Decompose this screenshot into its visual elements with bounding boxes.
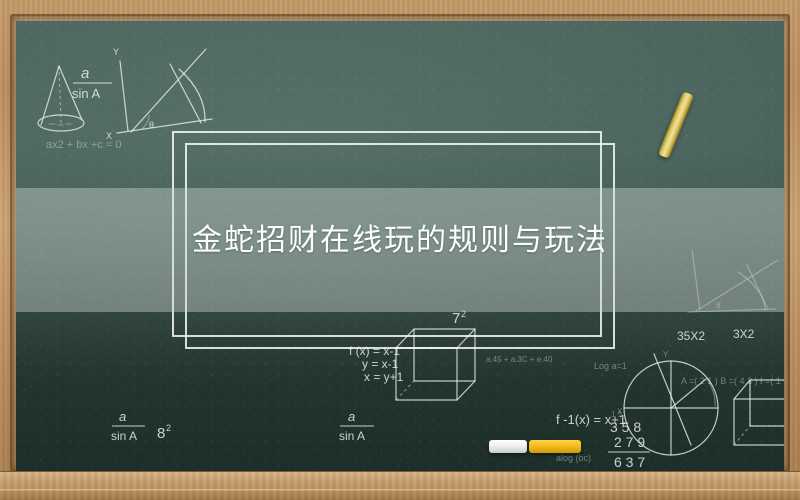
svg-text:A =( 2 1 ) B =( 4 3 ) I =( 1: A =( 2 1 ) B =( 4 3 ) I =( 1 0 ) (681, 376, 784, 386)
matrix-notation: A =( 2 1 ) B =( 4 3 ) I =( 1 0 ) (681, 376, 784, 386)
function-equations: f (x) = x-1 y = x-1 x = y+1 (349, 344, 404, 384)
ledge-lip (0, 489, 800, 492)
chalk-piece-white (489, 440, 527, 453)
svg-text:3 5 8: 3 5 8 (610, 419, 641, 435)
angle-diagram-topleft: Y X θ (106, 47, 212, 141)
circle-sector-diagram: Y X (617, 350, 718, 455)
svg-text:X: X (617, 407, 623, 416)
cone-shape (38, 66, 84, 131)
svg-text:Y: Y (663, 350, 669, 359)
svg-text:y = x-1: y = x-1 (362, 357, 399, 371)
log-note: Log a=1 (594, 361, 627, 371)
label-35x2: 35X2 (677, 329, 705, 343)
chalk-piece-yellow (529, 440, 581, 453)
inverse-function: f -1(x) = x+1 (556, 412, 626, 427)
svg-text:a: a (119, 409, 126, 424)
svg-text:sin A: sin A (111, 429, 137, 443)
svg-text:1 1: 1 1 (611, 410, 623, 419)
svg-text:sin A: sin A (72, 86, 101, 101)
svg-text:sin A: sin A (339, 429, 365, 443)
exponent-eight-squared: 8 2 (157, 423, 171, 442)
fraction-a-over-sin-a-center-bottom: a sin A (339, 409, 374, 443)
svg-text:Y: Y (113, 47, 119, 57)
chalk-stick-yellow-top-right (658, 91, 695, 159)
addition-problem: 1 1 3 5 8 2 7 9 6 3 7 (608, 410, 650, 470)
svg-text:2: 2 (166, 423, 171, 433)
label-3x2: 3X2 (733, 327, 755, 341)
svg-text:θ: θ (149, 120, 154, 130)
svg-text:6 3 7: 6 3 7 (614, 454, 645, 470)
svg-text:a: a (81, 65, 89, 82)
quadratic-equation: ax2 + bx +c = 0 (46, 139, 122, 151)
log-bc-note: alog (bc) (556, 453, 591, 463)
svg-text:x = y+1: x = y+1 (364, 370, 404, 384)
fraction-a-over-sin-a-left-bottom: a sin A (111, 409, 145, 443)
fraction-a-over-sin-a-topleft: a sin A (72, 65, 112, 101)
chalk-ledge (0, 471, 800, 500)
screenshot-root: a sin A ax2 + bx +c = 0 Y X θ (0, 0, 800, 500)
svg-text:2 7 9: 2 7 9 (614, 434, 645, 450)
small-formula-center: a.45 + a.3C + e.40 (486, 355, 553, 364)
chalkboard-surface: a sin A ax2 + bx +c = 0 Y X θ (16, 21, 784, 474)
svg-text:a: a (348, 409, 355, 424)
svg-text:X: X (106, 131, 112, 141)
cube-wireframe-right (734, 380, 784, 445)
svg-text:8: 8 (157, 425, 165, 442)
page-title: 金蛇招财在线玩的规则与玩法 (16, 224, 784, 258)
